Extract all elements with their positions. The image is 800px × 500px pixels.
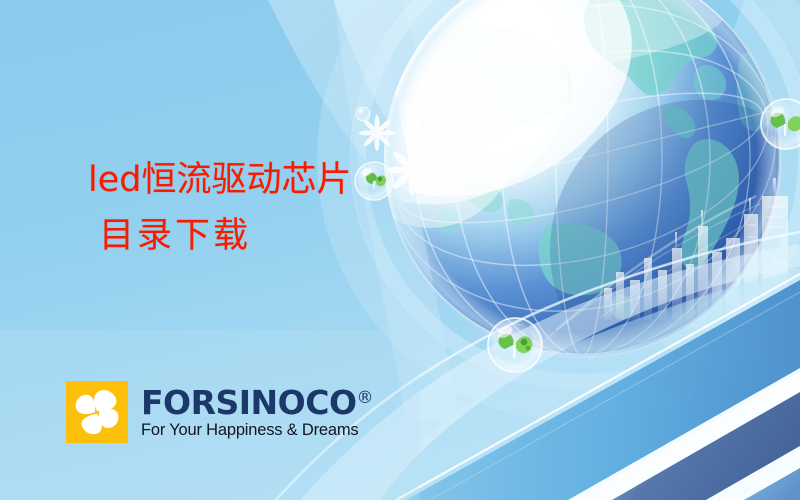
logo-wordmark: FORSINOCO® bbox=[141, 386, 373, 419]
cityscape-silhouette bbox=[604, 178, 788, 320]
registered-trademark-icon: ® bbox=[357, 388, 374, 408]
bubble-icon-small bbox=[356, 107, 370, 121]
lower-ribbons bbox=[276, 232, 800, 500]
promo-banner: led恒流驱动芯片 目录下载 FORSINOCO® bbox=[0, 0, 800, 500]
logo-wordmark-text: FORSINOCO bbox=[141, 383, 357, 422]
light-streaks bbox=[540, 196, 760, 344]
headline-line-2: 目录下载 bbox=[99, 219, 508, 254]
logo-text-block: FORSINOCO® For Your Happiness & Dreams bbox=[141, 386, 373, 439]
bubble-icon-right-edge bbox=[761, 99, 800, 149]
four-petal-pinwheel-icon bbox=[66, 381, 128, 443]
starburst-icon-small bbox=[359, 115, 395, 151]
bubble-icon-lower bbox=[488, 318, 542, 372]
company-logo: FORSINOCO® For Your Happiness & Dreams bbox=[66, 381, 373, 443]
continents bbox=[396, 0, 786, 319]
headline-line-1: led恒流驱动芯片 bbox=[88, 163, 508, 198]
headline-block: led恒流驱动芯片 目录下载 bbox=[88, 163, 508, 254]
logo-tagline: For Your Happiness & Dreams bbox=[141, 422, 373, 439]
